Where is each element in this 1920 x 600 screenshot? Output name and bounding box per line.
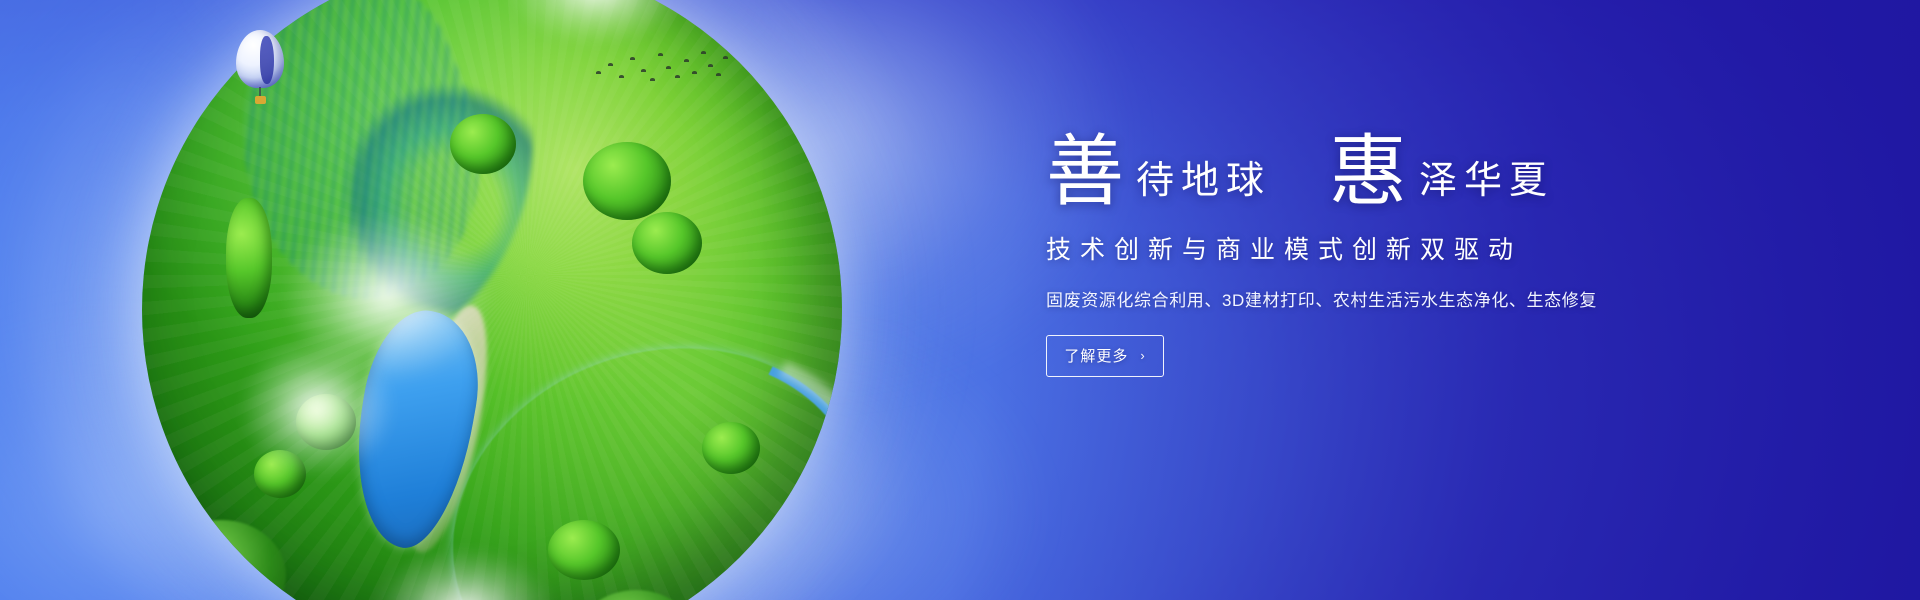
tree-canopy xyxy=(226,198,272,318)
hero-subtitle: 技术创新与商业模式创新双驱动 xyxy=(1046,230,1766,266)
bird-flock-icon xyxy=(592,45,727,87)
headline-part2-big: 惠 xyxy=(1329,136,1407,208)
tree-canopy xyxy=(632,212,702,274)
tree-canopy xyxy=(583,142,671,220)
learn-more-label: 了解更多 xyxy=(1064,345,1128,366)
tree-canopy xyxy=(702,422,760,474)
headline-part2-small: 泽华夏 xyxy=(1407,162,1554,208)
hero-description: 固废资源化综合利用、3D建材打印、农村生活污水生态净化、生态修复 xyxy=(1046,286,1766,311)
hero-banner: 善 待地球 惠 泽华夏 技术创新与商业模式创新双驱动 固废资源化综合利用、3D建… xyxy=(0,0,1920,600)
learn-more-button[interactable]: 了解更多 › xyxy=(1046,335,1164,377)
hero-copy: 善 待地球 惠 泽华夏 技术创新与商业模式创新双驱动 固废资源化综合利用、3D建… xyxy=(1046,136,1766,377)
balloon-stripe xyxy=(260,36,274,84)
tree-canopy xyxy=(548,520,620,580)
headline-part1-big: 善 xyxy=(1046,136,1124,208)
tree-canopy xyxy=(450,114,516,174)
headline-part1-small: 待地球 xyxy=(1124,162,1271,208)
balloon-basket xyxy=(255,96,266,104)
planet-cloud xyxy=(240,338,394,478)
chevron-right-icon: › xyxy=(1140,348,1145,363)
page-title: 善 待地球 惠 泽华夏 xyxy=(1046,136,1766,208)
hot-air-balloon-icon xyxy=(236,30,284,108)
